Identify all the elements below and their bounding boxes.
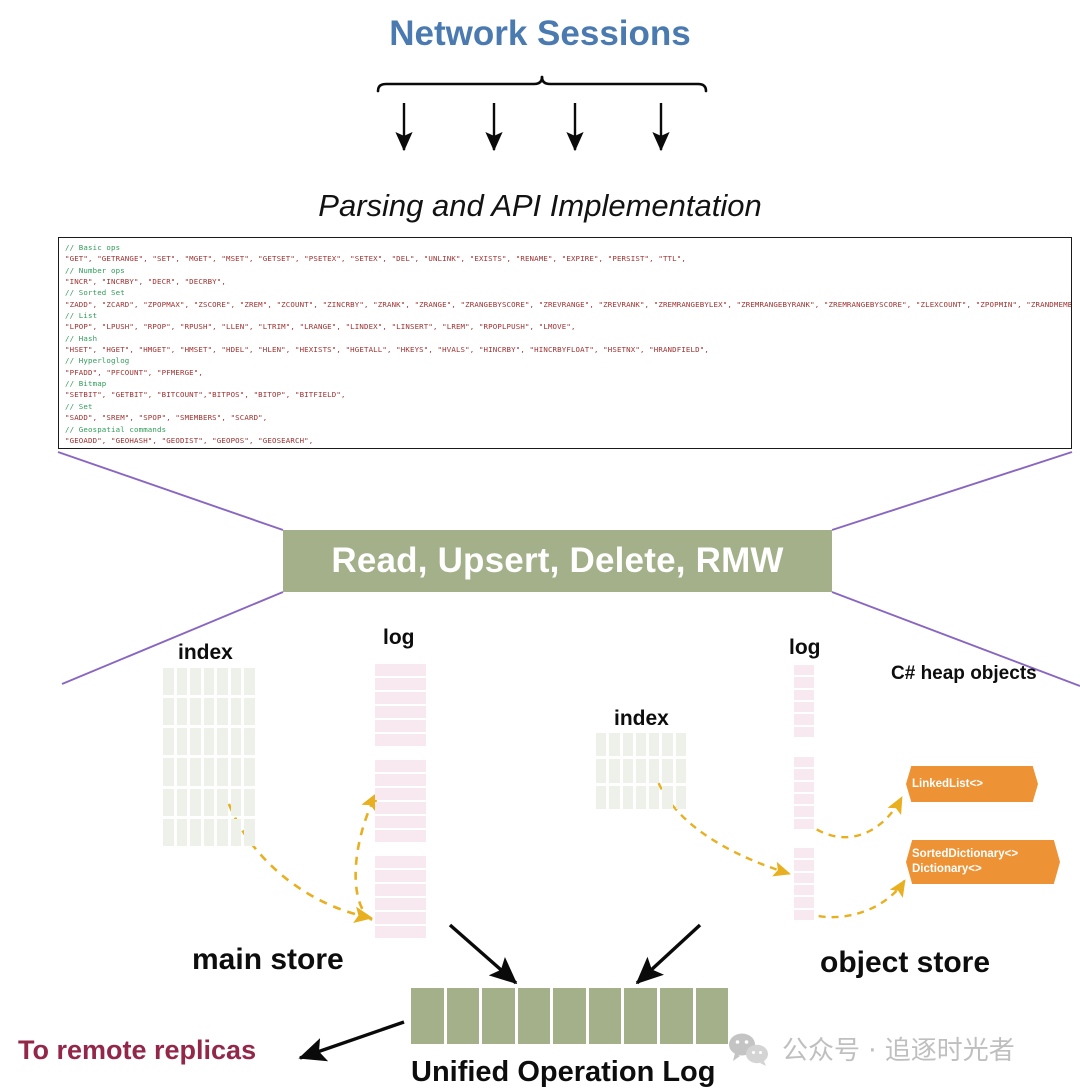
code-command-line: "INCR", "INCRBY", "DECR", "DECRBY",	[65, 276, 1071, 287]
index-cell	[244, 668, 255, 695]
index-cell	[217, 789, 228, 816]
unified-log-cell	[411, 988, 444, 1044]
code-comment-line: // Basic ops	[65, 242, 1071, 253]
index-cell	[190, 698, 201, 725]
index-cell	[217, 758, 228, 785]
log-cell	[794, 819, 814, 829]
index-cell	[190, 728, 201, 755]
object-store-index-label: index	[614, 707, 669, 731]
index-cell	[609, 786, 619, 809]
log-cell	[794, 848, 814, 858]
index-cell	[190, 758, 201, 785]
log-cell	[794, 782, 814, 792]
index-cell	[244, 789, 255, 816]
unified-log-cell	[482, 988, 515, 1044]
object-store-index-grid	[596, 733, 686, 809]
page-title: Network Sessions	[0, 14, 1080, 54]
parsing-layer-label: Parsing and API Implementation	[0, 188, 1080, 224]
unified-log-cell	[660, 988, 693, 1044]
index-cell	[609, 759, 619, 782]
code-comment-line: // Hyperloglog	[65, 355, 1071, 366]
index-cell	[177, 758, 188, 785]
code-comment-line: // Number ops	[65, 265, 1071, 276]
csharp-heap-objects-label: C# heap objects	[891, 663, 1037, 685]
object-store-log-group	[794, 848, 814, 920]
index-cell	[190, 789, 201, 816]
index-cell	[676, 786, 686, 809]
code-command-line: "ZADD", "ZCARD", "ZPOPMAX", "ZSCORE", "Z…	[65, 299, 1071, 310]
index-cell	[204, 758, 215, 785]
index-cell	[190, 668, 201, 695]
index-cell	[163, 728, 174, 755]
index-cell	[231, 789, 242, 816]
log-cell	[794, 690, 814, 700]
code-comment-line: // List	[65, 310, 1071, 321]
code-command-line: "SETBIT", "GETBIT", "BITCOUNT","BITPOS",…	[65, 389, 1071, 400]
index-cell	[244, 819, 255, 846]
index-cell	[676, 759, 686, 782]
index-cell	[636, 759, 646, 782]
log-cell	[794, 910, 814, 920]
unified-operation-log-label: Unified Operation Log	[411, 1056, 716, 1089]
code-command-line: "GET", "GETRANGE", "SET", "MGET", "MSET"…	[65, 253, 1071, 264]
command-list-code-block: // Basic ops"GET", "GETRANGE", "SET", "M…	[58, 237, 1072, 449]
index-cell	[231, 728, 242, 755]
object-store-dashed-links	[654, 771, 905, 917]
log-cell	[794, 769, 814, 779]
log-cell	[375, 912, 426, 924]
index-cell	[217, 819, 228, 846]
main-store-label: main store	[192, 943, 344, 977]
heap-object-linkedlist: LinkedList<>	[906, 766, 1038, 802]
code-comment-line: // Bitmap	[65, 378, 1071, 389]
log-cell	[375, 774, 426, 786]
index-cell	[217, 698, 228, 725]
index-cell	[163, 668, 174, 695]
index-cell	[609, 733, 619, 756]
unified-log-cell	[518, 988, 551, 1044]
remote-replicas-label: To remote replicas	[18, 1035, 256, 1066]
code-command-line: "SADD", "SREM", "SPOP", "SMEMBERS", "SCA…	[65, 412, 1071, 423]
log-cell	[794, 665, 814, 675]
object-store-log-group	[794, 757, 814, 829]
index-cell	[662, 786, 672, 809]
storage-api-banner-label: Read, Upsert, Delete, RMW	[331, 541, 783, 581]
wechat-icon	[728, 1032, 770, 1066]
index-cell	[231, 698, 242, 725]
code-comment-line: // Sorted Set	[65, 287, 1071, 298]
watermark-text: 公众号 · 追逐时光者	[782, 1030, 1015, 1067]
main-store-index-label: index	[178, 641, 233, 665]
index-cell	[231, 819, 242, 846]
log-cell	[375, 720, 426, 732]
heap-object-dictionary-label: SortedDictionary<>Dictionary<>	[906, 847, 1060, 877]
log-cell	[375, 856, 426, 868]
log-cell	[375, 816, 426, 828]
log-cell	[794, 897, 814, 907]
index-cell	[217, 668, 228, 695]
index-cell	[177, 819, 188, 846]
code-comment-line: // Hash	[65, 333, 1071, 344]
log-cell	[794, 702, 814, 712]
unified-operation-log-cells	[411, 988, 728, 1044]
index-cell	[596, 786, 606, 809]
code-command-line: "LPOP", "LPUSH", "RPOP", "RPUSH", "LLEN"…	[65, 321, 1071, 332]
object-store-label: object store	[820, 946, 990, 980]
log-cell	[794, 757, 814, 767]
log-cell	[375, 760, 426, 772]
session-brace-icon	[378, 77, 706, 91]
code-comment-line: // Geospatial commands	[65, 424, 1071, 435]
object-store-log-label: log	[789, 636, 821, 660]
index-cell	[636, 733, 646, 756]
index-cell	[649, 759, 659, 782]
log-cell	[375, 898, 426, 910]
main-store-log-group	[375, 760, 426, 842]
index-cell	[177, 668, 188, 695]
code-lines: // Basic ops"GET", "GETRANGE", "SET", "M…	[65, 242, 1071, 449]
code-command-line: "HSET", "HGET", "HMGET", "HMSET", "HDEL"…	[65, 344, 1071, 355]
log-cell	[794, 794, 814, 804]
unified-log-cell	[589, 988, 622, 1044]
object-store-log-group	[794, 665, 814, 737]
index-cell	[596, 733, 606, 756]
log-cell	[375, 926, 426, 938]
unified-log-cell	[447, 988, 480, 1044]
main-store-index-grid	[163, 668, 255, 846]
index-cell	[163, 819, 174, 846]
log-cell	[375, 664, 426, 676]
index-cell	[649, 786, 659, 809]
log-cell	[794, 727, 814, 737]
diagram-canvas: Network Sessions Parsing and API Impleme…	[0, 0, 1080, 1092]
unified-log-cell	[553, 988, 586, 1044]
index-cell	[676, 733, 686, 756]
index-cell	[623, 759, 633, 782]
code-command-line: "PFADD", "PFCOUNT", "PFMERGE",	[65, 367, 1071, 378]
session-arrows	[404, 103, 661, 150]
index-cell	[177, 728, 188, 755]
code-command-line: "GEOADD", "GEOHASH", "GEODIST", "GEOPOS"…	[65, 435, 1071, 446]
index-cell	[163, 698, 174, 725]
index-cell	[204, 819, 215, 846]
index-cell	[636, 786, 646, 809]
heap-object-linkedlist-label: LinkedList<>	[906, 778, 1038, 790]
log-cell	[794, 885, 814, 895]
log-cell	[375, 830, 426, 842]
log-cell	[794, 873, 814, 883]
index-cell	[217, 728, 228, 755]
index-cell	[244, 728, 255, 755]
index-cell	[204, 698, 215, 725]
log-cell	[794, 860, 814, 870]
heap-object-dictionary: SortedDictionary<>Dictionary<>	[906, 840, 1060, 884]
code-comment-line: // Set	[65, 401, 1071, 412]
log-cell	[375, 884, 426, 896]
log-cell	[375, 678, 426, 690]
log-cell	[375, 706, 426, 718]
index-cell	[177, 789, 188, 816]
log-cell	[375, 788, 426, 800]
log-cell	[375, 734, 426, 746]
log-cell	[375, 692, 426, 704]
index-cell	[662, 733, 672, 756]
index-cell	[177, 698, 188, 725]
index-cell	[231, 668, 242, 695]
code-comment-line: // Transactions: TODO	[65, 446, 1071, 449]
log-cell	[794, 806, 814, 816]
index-cell	[244, 698, 255, 725]
log-cell	[375, 870, 426, 882]
index-cell	[623, 786, 633, 809]
log-cell	[794, 714, 814, 724]
index-cell	[649, 733, 659, 756]
unified-log-cell	[624, 988, 657, 1044]
index-cell	[244, 758, 255, 785]
log-cell	[794, 677, 814, 687]
index-cell	[163, 789, 174, 816]
main-store-log-group	[375, 856, 426, 938]
index-cell	[204, 728, 215, 755]
unified-log-cell	[696, 988, 729, 1044]
log-cell	[375, 802, 426, 814]
storage-api-banner: Read, Upsert, Delete, RMW	[283, 530, 832, 592]
index-cell	[662, 759, 672, 782]
watermark: 公众号 · 追逐时光者	[728, 1030, 1015, 1067]
index-cell	[231, 758, 242, 785]
index-cell	[204, 668, 215, 695]
index-cell	[596, 759, 606, 782]
index-cell	[190, 819, 201, 846]
main-store-log-label: log	[383, 626, 415, 650]
index-cell	[163, 758, 174, 785]
index-cell	[204, 789, 215, 816]
main-store-log-group	[375, 664, 426, 746]
index-cell	[623, 733, 633, 756]
